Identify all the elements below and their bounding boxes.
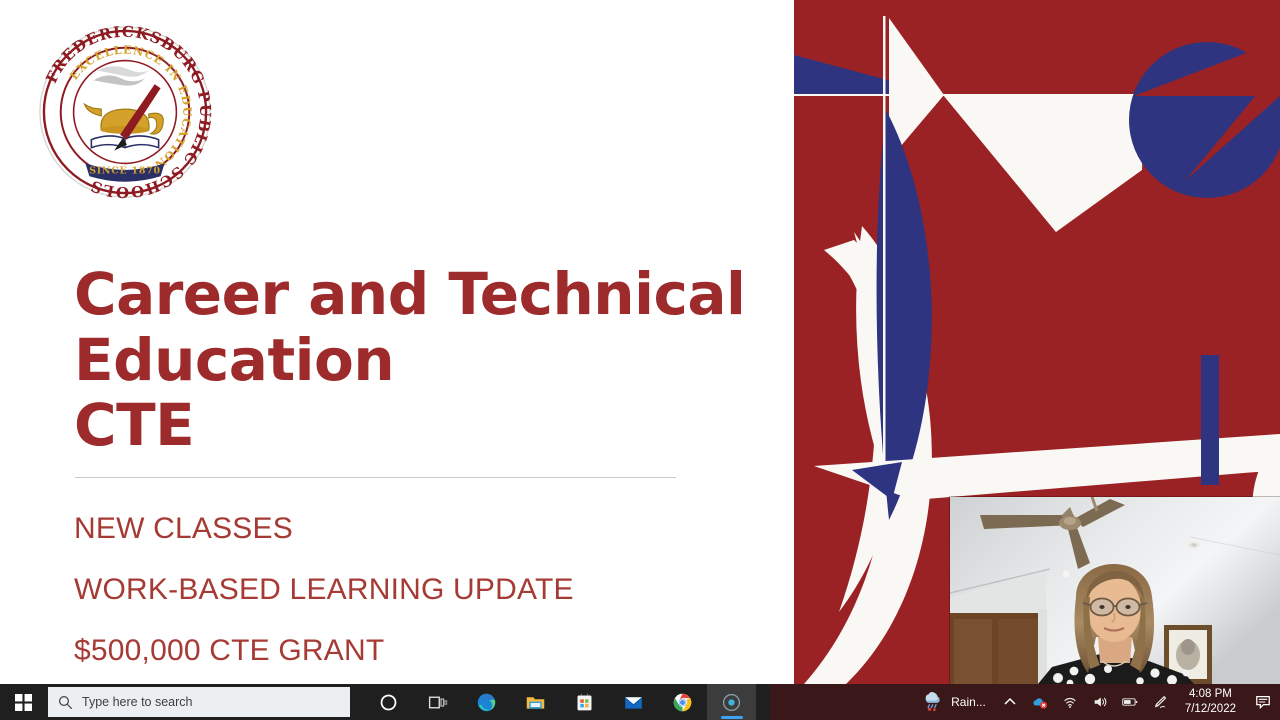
fredericksburg-public-schools-seal-icon: FREDERICKSBURG PUBLIC SCHOOLS EXCELLENCE… [36, 22, 214, 202]
task-view-icon[interactable] [413, 684, 462, 720]
search-input[interactable]: Type here to search [48, 687, 350, 717]
screen: FREDERICKSBURG PUBLIC SCHOOLS EXCELLENCE… [0, 0, 1280, 720]
windows-taskbar: Type here to search [0, 684, 1280, 720]
slide-title: Career and Technical Education CTE [74, 262, 694, 459]
rain-cloud-icon [923, 691, 945, 713]
battery-icon[interactable] [1115, 684, 1145, 720]
google-chrome-icon[interactable] [658, 684, 707, 720]
list-item: WORK-BASED LEARNING UPDATE [74, 559, 764, 620]
start-button[interactable] [0, 684, 46, 720]
title-line-1: Career and Technical [74, 262, 694, 328]
list-item: NEW CLASSES [74, 498, 764, 559]
webex-icon[interactable] [707, 684, 756, 720]
list-item: $500,000 CTE GRANT [74, 620, 764, 681]
clock[interactable]: 4:08 PM 7/12/2022 [1175, 684, 1246, 720]
onedrive-icon[interactable] [1025, 684, 1055, 720]
cortana-icon[interactable] [364, 684, 413, 720]
mail-icon[interactable] [609, 684, 658, 720]
weather-widget[interactable]: Rain... [914, 684, 995, 720]
powerpoint-slide: FREDERICKSBURG PUBLIC SCHOOLS EXCELLENCE… [0, 0, 1280, 684]
action-center-icon[interactable] [1246, 684, 1280, 720]
microsoft-store-icon[interactable] [560, 684, 609, 720]
windows-logo-icon [15, 694, 32, 711]
file-explorer-icon[interactable] [511, 684, 560, 720]
system-tray: Rain... [914, 684, 1280, 720]
title-line-2: Education [74, 328, 694, 394]
title-divider [75, 477, 676, 478]
pen-workspace-icon[interactable] [1145, 684, 1175, 720]
slide-bullet-list: NEW CLASSES WORK-BASED LEARNING UPDATE $… [74, 498, 764, 682]
network-icon[interactable] [1055, 684, 1085, 720]
running-indicator [721, 716, 743, 719]
weather-label: Rain... [951, 695, 986, 709]
presenter-video-feed[interactable] [950, 497, 1280, 684]
microsoft-edge-icon[interactable] [462, 684, 511, 720]
show-hidden-icons-chevron-icon[interactable] [995, 684, 1025, 720]
svg-text:SINCE 1870: SINCE 1870 [89, 165, 161, 176]
taskbar-left-cluster: Type here to search [0, 684, 756, 720]
title-line-3: CTE [74, 393, 694, 459]
search-placeholder: Type here to search [82, 695, 192, 709]
clock-date: 7/12/2022 [1185, 702, 1236, 717]
clock-time: 4:08 PM [1189, 687, 1232, 702]
volume-icon[interactable] [1085, 684, 1115, 720]
search-icon [58, 695, 73, 710]
